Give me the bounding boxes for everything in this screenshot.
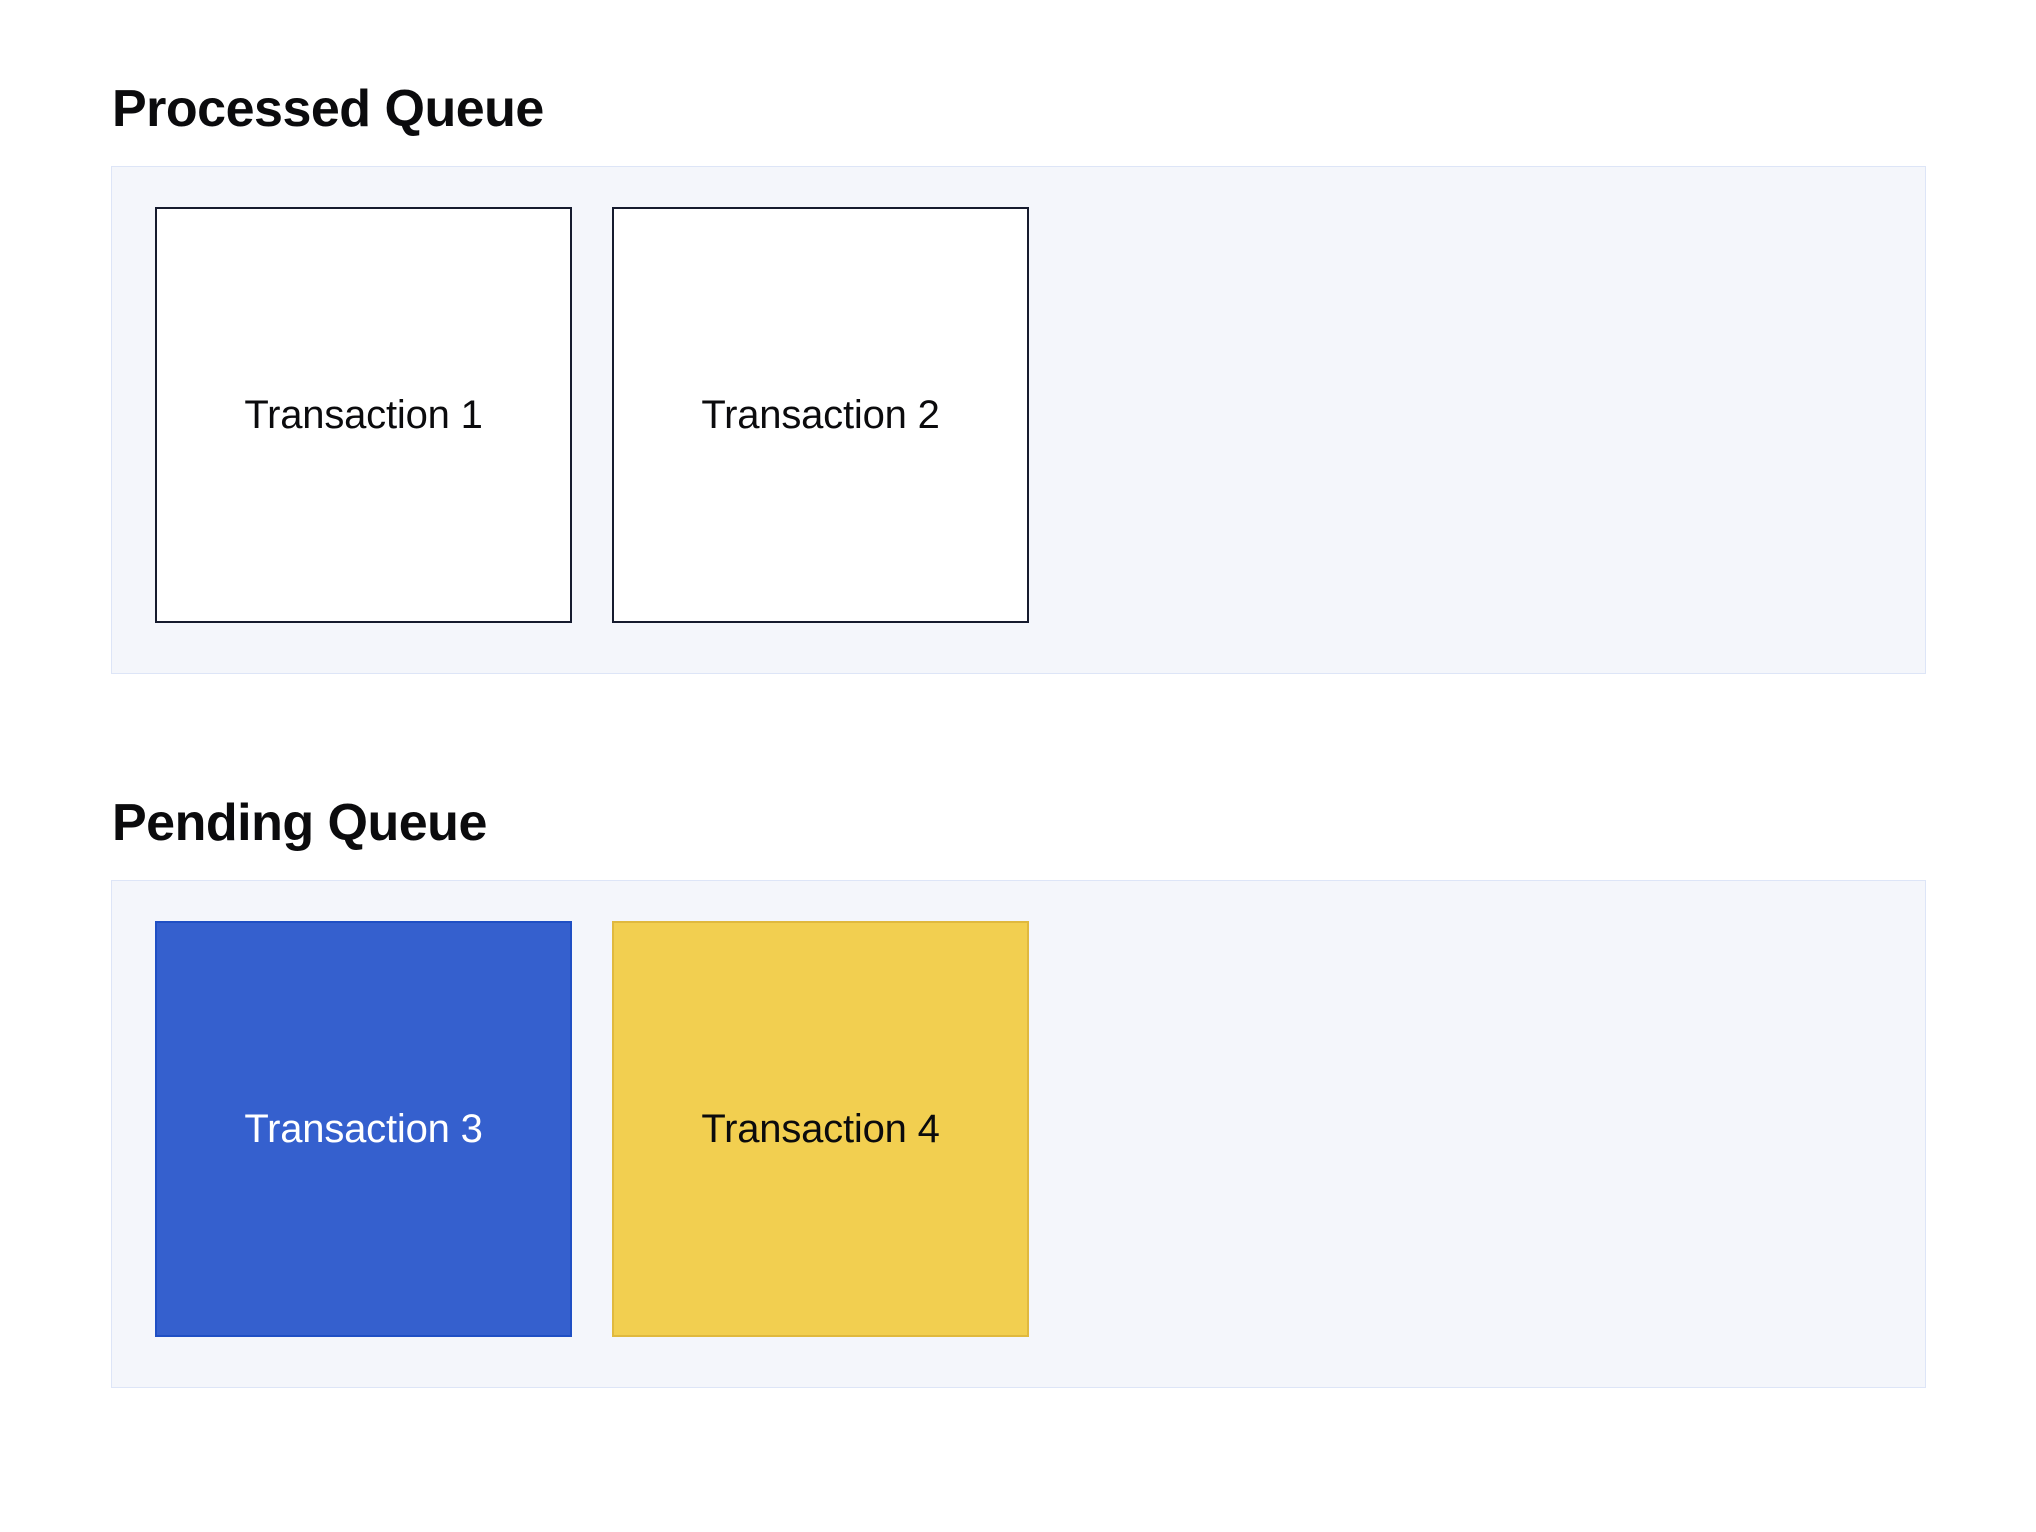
- transaction-card-4[interactable]: Transaction 4: [612, 921, 1029, 1337]
- transaction-card-3[interactable]: Transaction 3: [155, 921, 572, 1337]
- transaction-card-2-label: Transaction 2: [701, 392, 939, 438]
- transaction-card-3-label: Transaction 3: [244, 1106, 482, 1152]
- processed-queue-title: Processed Queue: [112, 78, 1926, 140]
- page-root: Processed Queue Transaction 1 Transactio…: [0, 0, 2036, 1532]
- transaction-card-1[interactable]: Transaction 1: [155, 207, 572, 623]
- processed-queue-container: Transaction 1 Transaction 2: [111, 166, 1926, 674]
- pending-queue-title: Pending Queue: [112, 792, 1926, 854]
- transaction-card-4-label: Transaction 4: [701, 1106, 939, 1152]
- section-processed-queue: Processed Queue Transaction 1 Transactio…: [111, 78, 1926, 674]
- section-pending-queue: Pending Queue Transaction 3 Transaction …: [111, 792, 1926, 1388]
- transaction-card-1-label: Transaction 1: [244, 392, 482, 438]
- pending-queue-container: Transaction 3 Transaction 4: [111, 880, 1926, 1388]
- transaction-card-2[interactable]: Transaction 2: [612, 207, 1029, 623]
